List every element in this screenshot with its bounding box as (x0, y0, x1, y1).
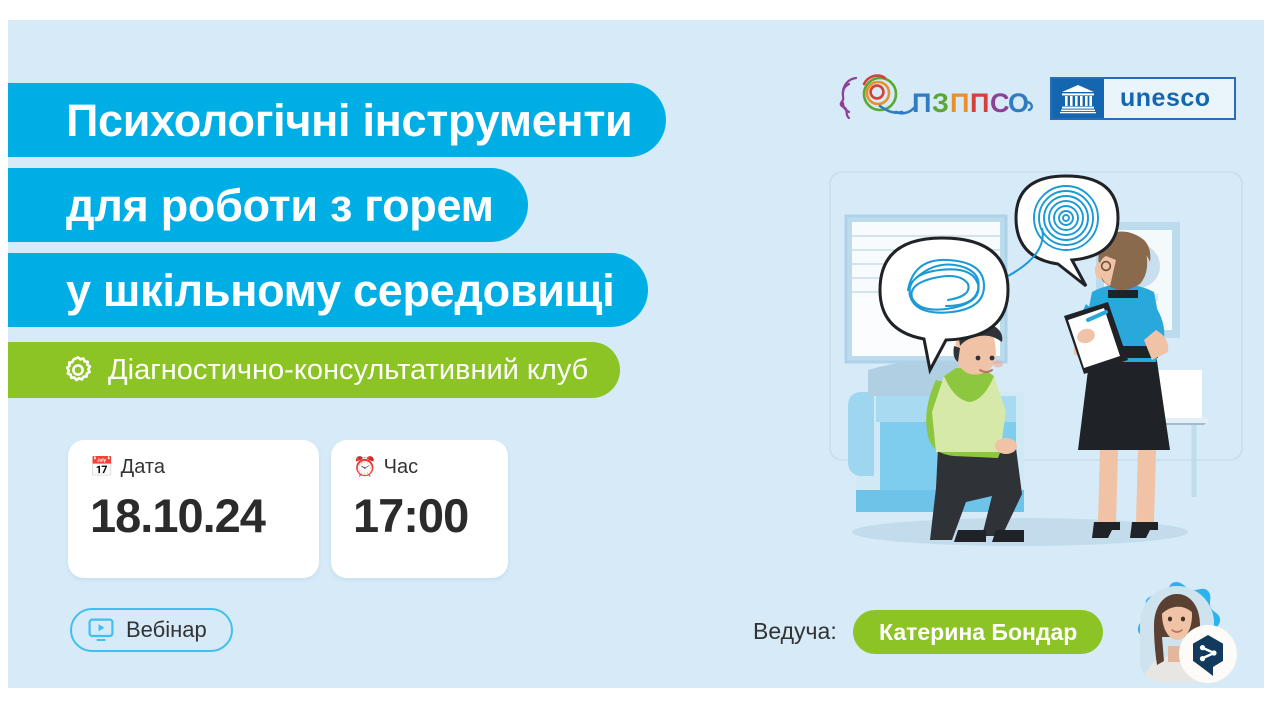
pzppso-logo-mark: П З П П С О (834, 68, 1034, 128)
unesco-logo: unesco (1050, 77, 1236, 120)
date-card: 📅 Дата 18.10.24 (68, 440, 319, 578)
pzppso-logo: П З П П С О (834, 68, 1034, 133)
host-name-pill: Катерина Бондар (853, 610, 1103, 654)
unesco-temple-glyph (1058, 83, 1098, 114)
time-card-value: 17:00 (353, 488, 488, 543)
title-line-1: Психологічні інструменти (8, 83, 666, 157)
host-name: Катерина Бондар (879, 619, 1077, 646)
unesco-temple-icon (1052, 79, 1104, 118)
monitor-play-icon (88, 618, 114, 642)
poster-card: Психологічні інструменти для роботи з го… (8, 20, 1264, 688)
avatar (1118, 578, 1238, 688)
calendar-icon: 📅 (90, 458, 114, 477)
time-card-label: Час (384, 456, 418, 479)
format-badge-label: Вебінар (126, 617, 207, 643)
share-bubble-icon (1178, 624, 1238, 684)
pzppso-letter-3: П (950, 88, 969, 118)
alarm-clock-icon: ⏰ (353, 458, 377, 477)
therapy-session-illustration (820, 170, 1252, 570)
time-card: ⏰ Час 17:00 (331, 440, 508, 578)
pzppso-letter-4: П (970, 88, 989, 118)
subtitle-text: Діагностично-консультативний клуб (108, 354, 588, 387)
pzppso-letter-1: П (912, 88, 931, 118)
unesco-wordmark: unesco (1120, 84, 1211, 113)
date-card-label: Дата (121, 456, 165, 479)
pzppso-letter-2: З (932, 88, 949, 118)
title-line-2: для роботи з горем (8, 168, 528, 242)
date-card-header: 📅 Дата (90, 456, 299, 479)
subtitle-bar: Діагностично-консультативний клуб (8, 342, 620, 398)
gear-icon (62, 354, 94, 386)
time-card-header: ⏰ Час (353, 456, 488, 479)
host-label: Ведуча: (753, 618, 837, 645)
date-card-value: 18.10.24 (90, 488, 299, 543)
title-line-3: у шкільному середовищі (8, 253, 648, 327)
pzppso-letter-5: С (990, 88, 1010, 118)
illustration-canvas (820, 170, 1252, 570)
format-badge-webinar: Вебінар (70, 608, 233, 652)
